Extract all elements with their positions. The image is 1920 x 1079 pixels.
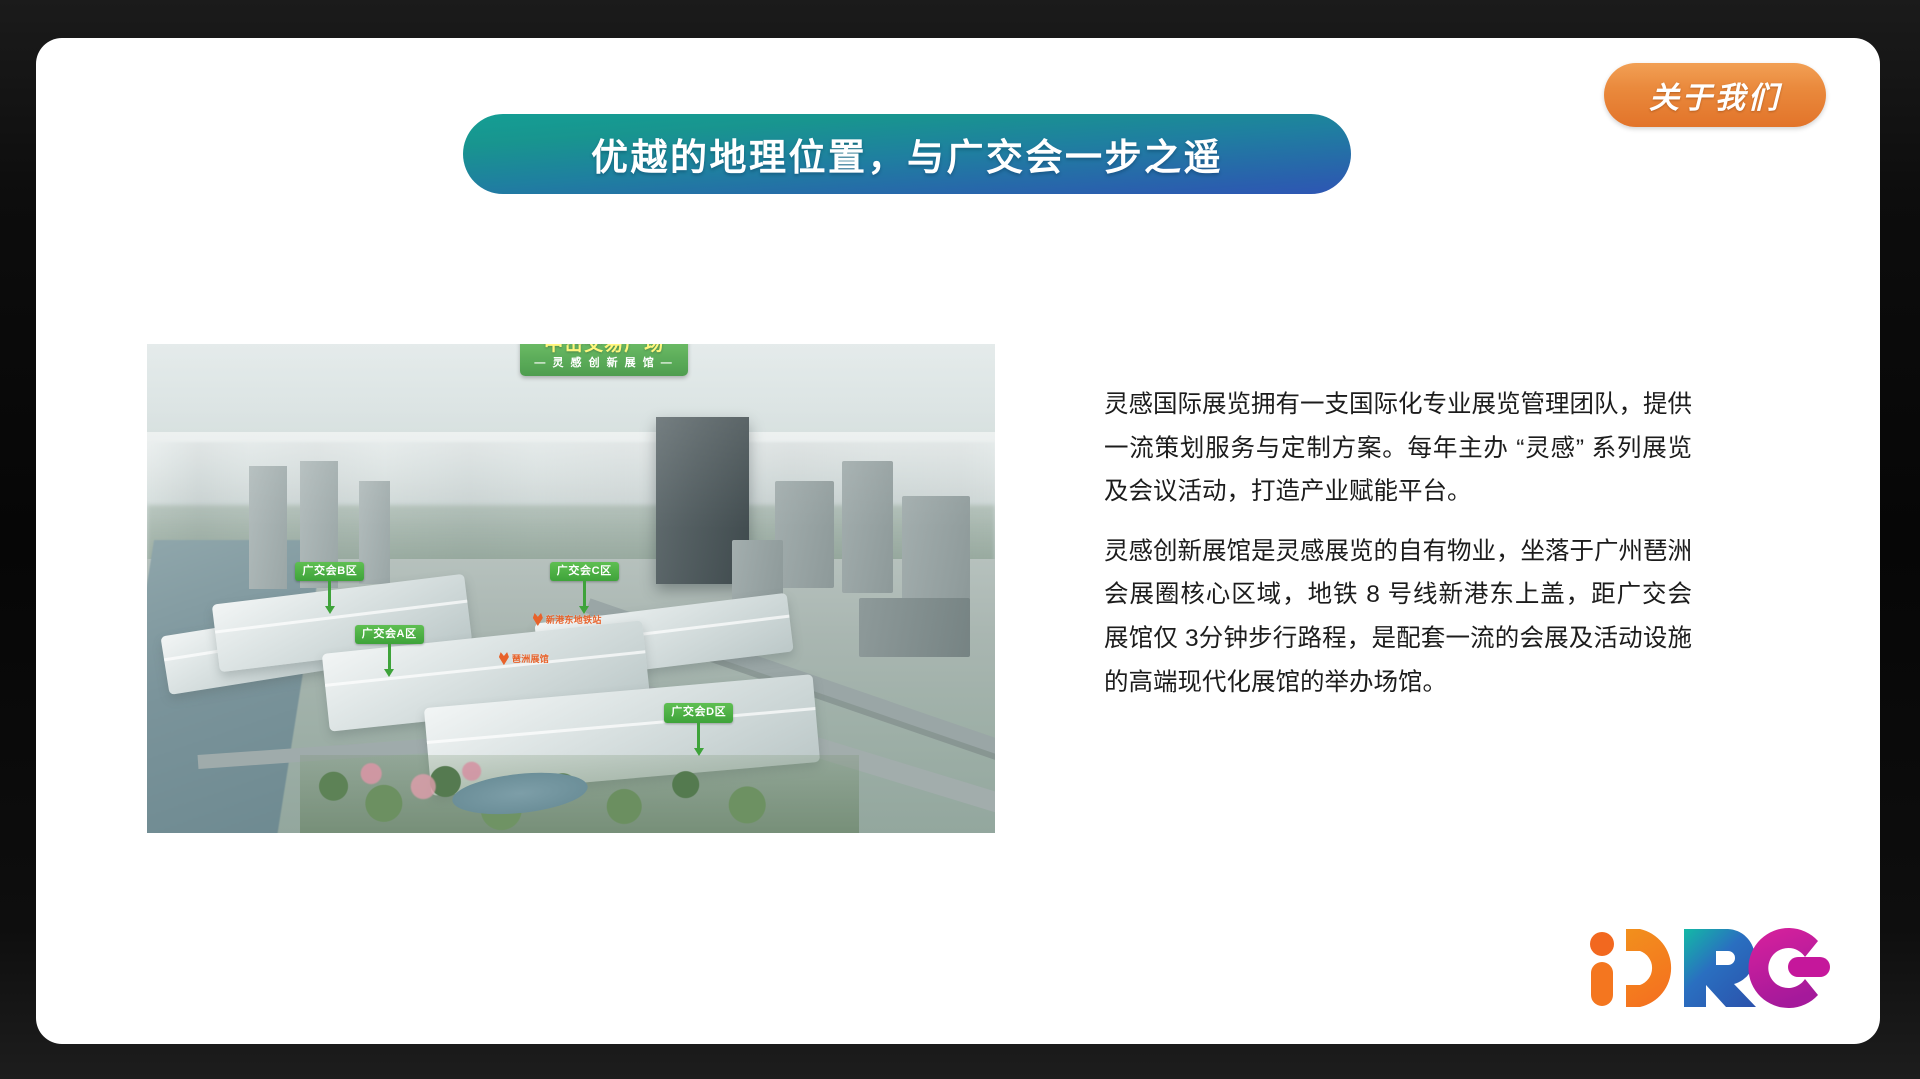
logo-letter-i-dot (1590, 932, 1614, 956)
map-label-text: 广交会B区 (302, 565, 357, 577)
photo-building-block (842, 461, 893, 593)
body-copy: 灵感国际展览拥有一支国际化专业展览管理团队，提供一流策划服务与定制方案。每年主办… (1104, 383, 1692, 704)
map-marker-pazhou-hall: 琶洲展馆 (499, 652, 549, 665)
idre-logo-icon (1586, 924, 1836, 1010)
logo-letter-d (1626, 929, 1671, 1007)
logo-letter-i-stem (1591, 962, 1613, 1006)
slide-title-banner: 优越的地理位置，与广交会一步之遥 (463, 114, 1351, 194)
map-marker-text: 琶洲展馆 (512, 652, 549, 665)
aerial-photo: 中岱交易广场 — 灵 感 创 新 展 馆 — 广交会B区 广交会A区 广交会C区… (147, 344, 995, 833)
map-label-text: 广交会D区 (671, 706, 726, 718)
section-badge-label: 关于我们 (1649, 73, 1781, 117)
brand-logo-idre (1586, 924, 1836, 1010)
map-label-stem (583, 581, 586, 607)
map-label-canton-fair-d: 广交会D区 (664, 703, 733, 722)
logo-letter-e-bar (1788, 957, 1830, 977)
map-label-canton-fair-c: 广交会C区 (550, 562, 619, 581)
photo-tower (249, 466, 287, 588)
photo-building-block (775, 481, 834, 589)
map-label-text: 广交会A区 (362, 628, 417, 640)
location-pin-icon (533, 613, 543, 626)
map-label-text: 广交会C区 (557, 565, 612, 577)
photo-building-block (902, 496, 970, 604)
slide-title-text: 优越的地理位置，与广交会一步之遥 (591, 127, 1223, 181)
paragraph-company-intro: 灵感国际展览拥有一支国际化专业展览管理团队，提供一流策划服务与定制方案。每年主办… (1104, 383, 1692, 514)
map-marker-text: 新港东地铁站 (546, 613, 602, 626)
photo-building-block (859, 598, 969, 657)
slide-card: 关于我们 优越的地理位置，与广交会一步之遥 中岱 (36, 38, 1880, 1044)
map-sign-title: 中岱交易广场 (524, 344, 684, 354)
map-label-stem (388, 644, 391, 670)
map-label-stem (697, 723, 700, 749)
map-sign-zhongdai-plaza: 中岱交易广场 — 灵 感 创 新 展 馆 — (520, 344, 688, 376)
map-sign-subtitle: — 灵 感 创 新 展 馆 — (524, 358, 684, 369)
map-label-stem (328, 581, 331, 607)
logo-letter-r (1684, 929, 1756, 1007)
location-pin-icon (499, 652, 509, 665)
map-marker-xingangdong-station: 新港东地铁站 (533, 613, 602, 626)
map-label-canton-fair-a: 广交会A区 (355, 625, 424, 644)
section-badge-about-us[interactable]: 关于我们 (1604, 63, 1826, 127)
map-label-canton-fair-b: 广交会B区 (295, 562, 364, 581)
paragraph-venue-location: 灵感创新展馆是灵感展览的自有物业，坐落于广州琶洲会展圈核心区域，地铁 8 号线新… (1104, 530, 1692, 704)
